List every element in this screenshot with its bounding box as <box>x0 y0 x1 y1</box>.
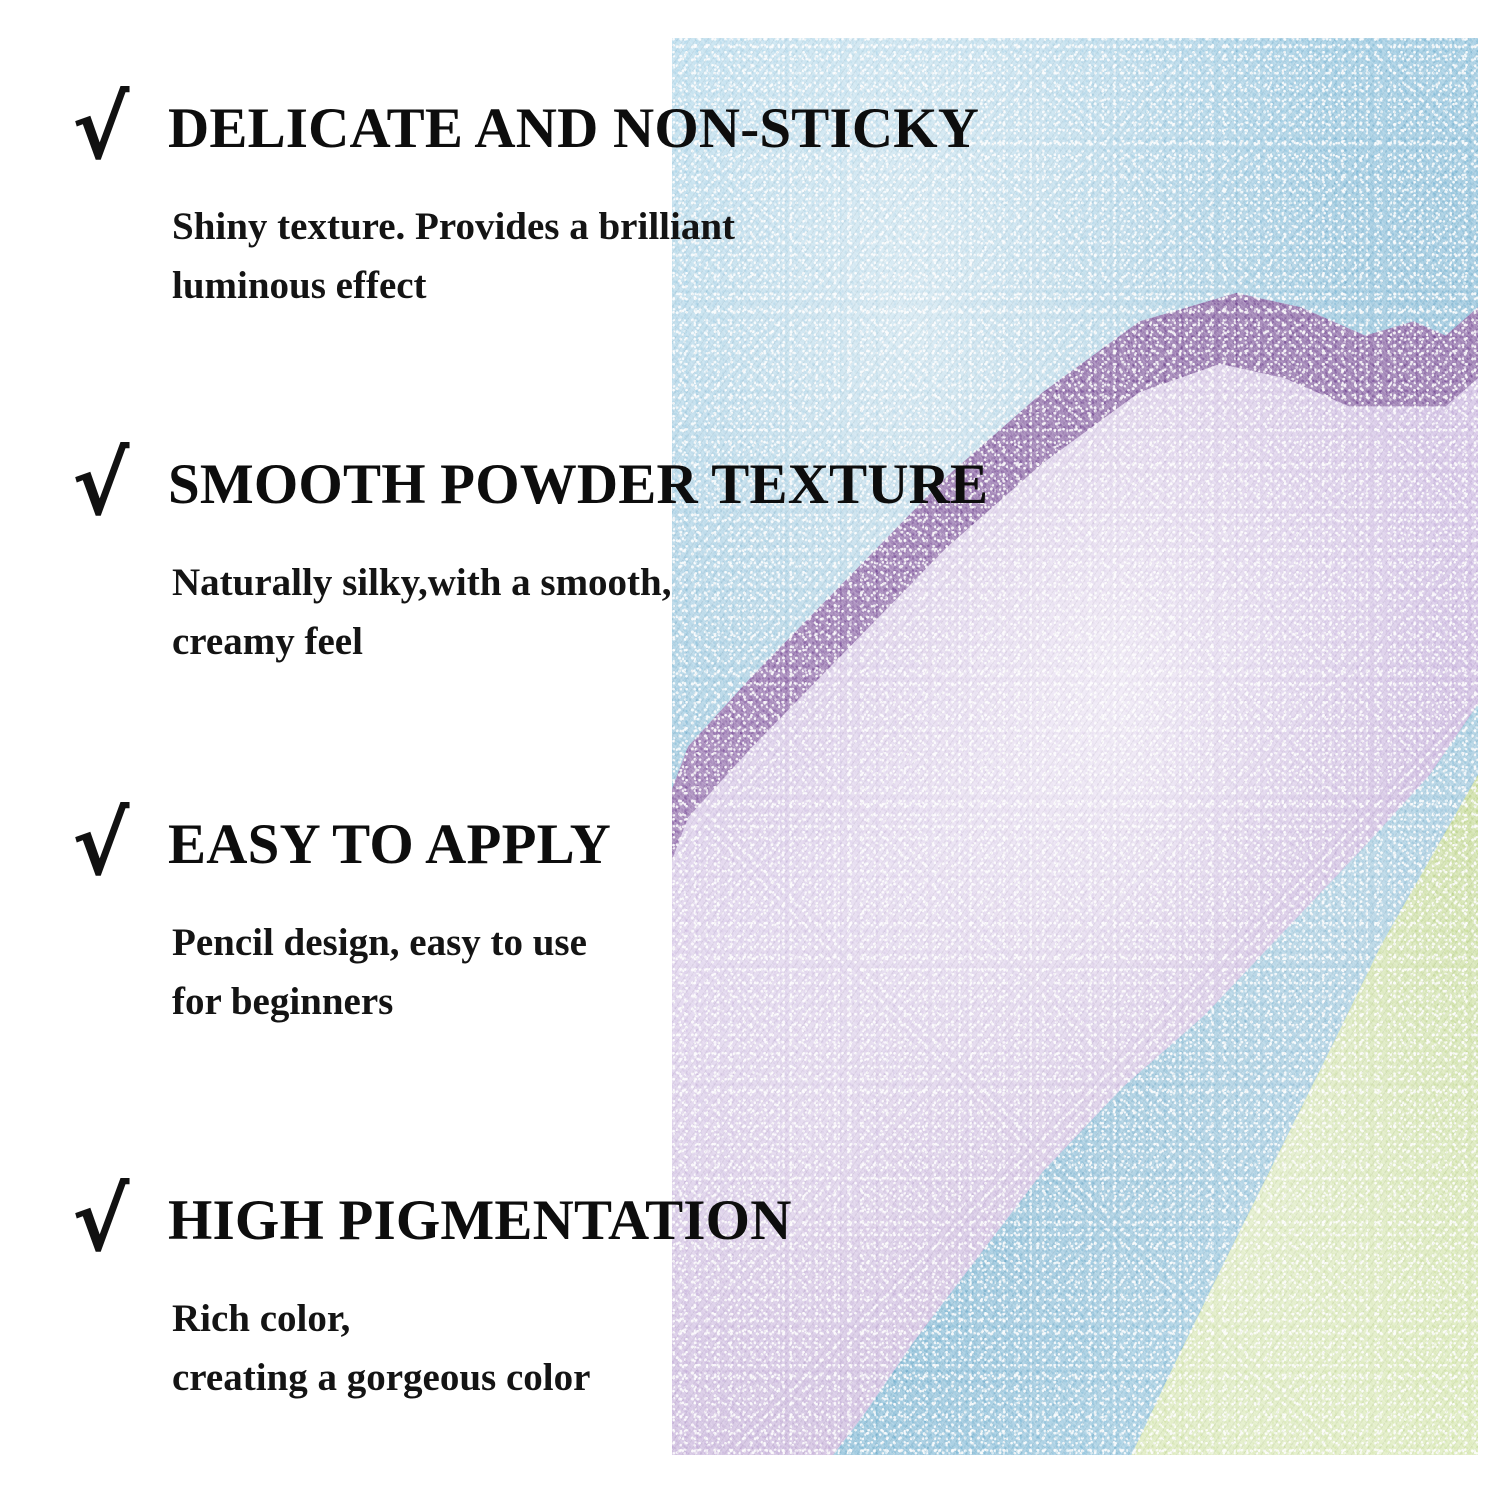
feature-item-delicate-and-non-sticky: √ DELICATE AND NON-STICKY Shiny texture.… <box>72 96 1452 316</box>
feature-list: √ DELICATE AND NON-STICKY Shiny texture.… <box>0 0 1500 1500</box>
product-feature-infographic: √ DELICATE AND NON-STICKY Shiny texture.… <box>0 0 1500 1500</box>
check-mark-icon: √ <box>72 446 168 525</box>
feature-item-smooth-powder-texture: √ SMOOTH POWDER TEXTURE Naturally silky,… <box>72 452 1452 672</box>
feature-title: SMOOTH POWDER TEXTURE <box>168 456 988 513</box>
feature-description: Rich color, creating a gorgeous color <box>172 1289 1452 1408</box>
feature-heading-row: √ DELICATE AND NON-STICKY <box>72 96 1452 175</box>
check-mark-icon: √ <box>72 1182 168 1261</box>
check-mark-icon: √ <box>72 90 168 169</box>
feature-heading-row: √ EASY TO APPLY <box>72 812 1452 891</box>
feature-heading-row: √ HIGH PIGMENTATION <box>72 1188 1452 1267</box>
feature-item-easy-to-apply: √ EASY TO APPLY Pencil design, easy to u… <box>72 812 1452 1032</box>
feature-heading-row: √ SMOOTH POWDER TEXTURE <box>72 452 1452 531</box>
feature-title: HIGH PIGMENTATION <box>168 1192 792 1249</box>
feature-item-high-pigmentation: √ HIGH PIGMENTATION Rich color, creating… <box>72 1188 1452 1408</box>
feature-description: Naturally silky,with a smooth, creamy fe… <box>172 553 1452 672</box>
feature-description: Shiny texture. Provides a brilliant lumi… <box>172 197 1452 316</box>
feature-title: DELICATE AND NON-STICKY <box>168 100 979 157</box>
check-mark-icon: √ <box>72 806 168 885</box>
feature-title: EASY TO APPLY <box>168 816 611 873</box>
feature-description: Pencil design, easy to use for beginners <box>172 913 1452 1032</box>
